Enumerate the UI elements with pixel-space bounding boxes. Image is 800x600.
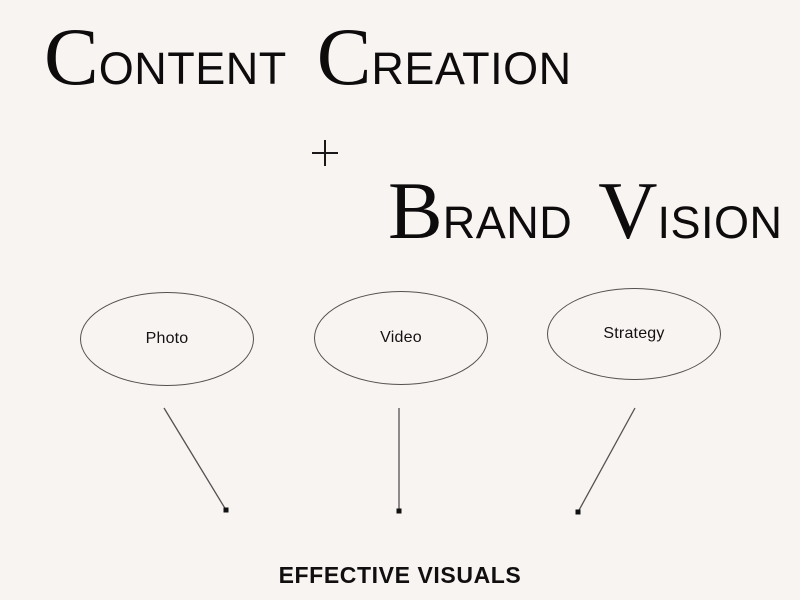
headline-line-brand-vision: BRANDVISION <box>388 170 782 252</box>
drop-cap-letter: V <box>598 165 657 256</box>
headline-word-content: CONTENT <box>44 16 287 98</box>
drop-cap-letter: B <box>388 165 443 256</box>
slide-canvas: CONTENTCREATION BRANDVISION Photo Video … <box>0 0 800 600</box>
connector-strategy <box>576 408 636 515</box>
node-label-strategy: Strategy <box>603 325 664 343</box>
node-ellipse-strategy[interactable]: Strategy <box>547 288 721 380</box>
headline-word-remainder: REATION <box>371 43 571 94</box>
headline-word-remainder: RAND <box>443 197 573 248</box>
plus-icon-vertical-bar <box>324 140 326 166</box>
node-label-video: Video <box>380 329 422 347</box>
connector-endpoint-strategy <box>576 510 581 515</box>
headline-word-creation: CREATION <box>317 16 572 98</box>
connector-line-photo <box>164 408 226 510</box>
connector-endpoint-photo <box>224 508 229 513</box>
headline-word-brand: BRAND <box>388 170 572 252</box>
connector-endpoint-video <box>397 509 402 514</box>
footer-effective-visuals-label: EFFECTIVE VISUALS <box>0 562 800 589</box>
headline-word-vision: VISION <box>598 170 782 252</box>
drop-cap-letter: C <box>317 11 372 102</box>
drop-cap-letter: C <box>44 11 99 102</box>
node-ellipse-video[interactable]: Video <box>314 291 488 385</box>
headline-word-remainder: ISION <box>657 197 782 248</box>
connector-line-strategy <box>578 408 635 512</box>
node-label-photo: Photo <box>146 330 189 348</box>
node-ellipse-photo[interactable]: Photo <box>80 292 254 386</box>
headline-line-content-creation: CONTENTCREATION <box>44 16 572 98</box>
connector-photo <box>164 408 229 513</box>
connector-video <box>397 408 402 514</box>
headline-word-remainder: ONTENT <box>99 43 287 94</box>
plus-icon <box>312 140 338 166</box>
